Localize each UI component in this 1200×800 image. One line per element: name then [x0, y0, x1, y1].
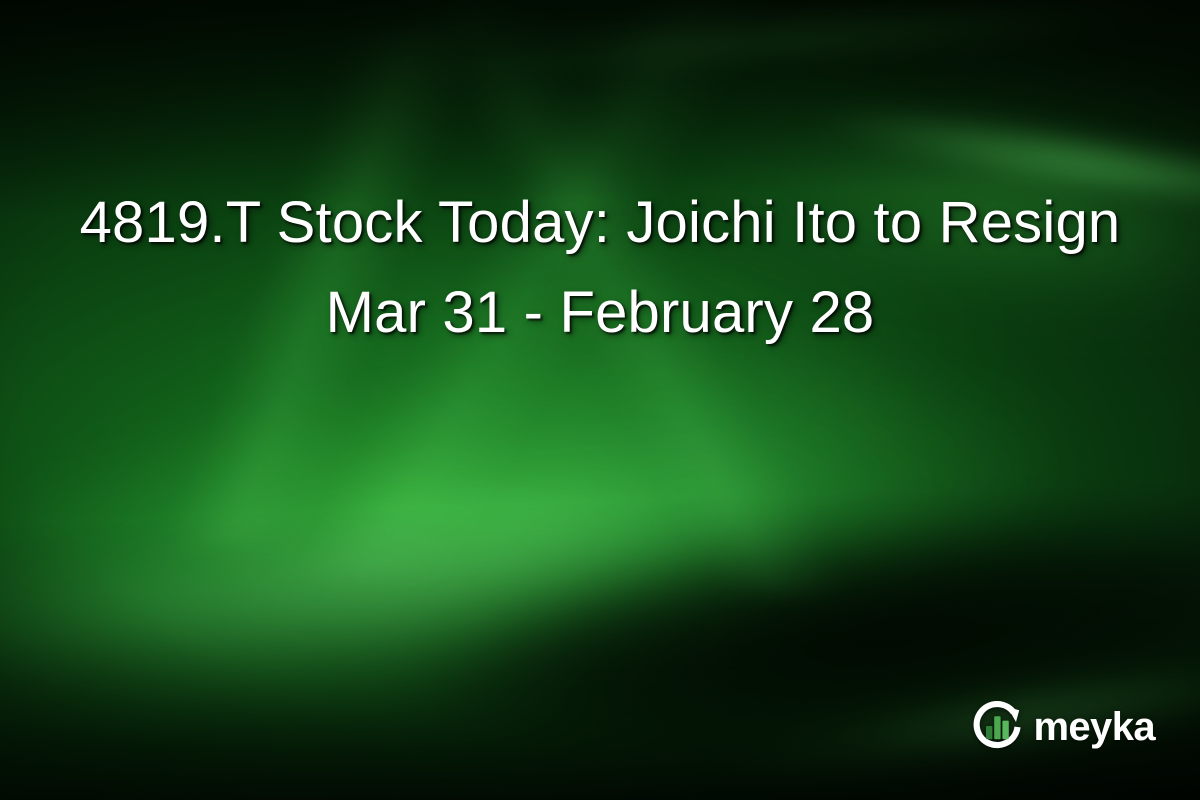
meyka-circle-bar-chart-icon [969, 699, 1025, 755]
brand-name: meyka [1033, 707, 1155, 747]
brand-lockup[interactable]: meyka [969, 699, 1155, 755]
headline-container: 4819.T Stock Today: Joichi Ito to Resign… [0, 178, 1200, 358]
background-vignette [0, 0, 1200, 800]
page-title: 4819.T Stock Today: Joichi Ito to Resign… [60, 178, 1140, 358]
social-card: 4819.T Stock Today: Joichi Ito to Resign… [0, 0, 1200, 800]
